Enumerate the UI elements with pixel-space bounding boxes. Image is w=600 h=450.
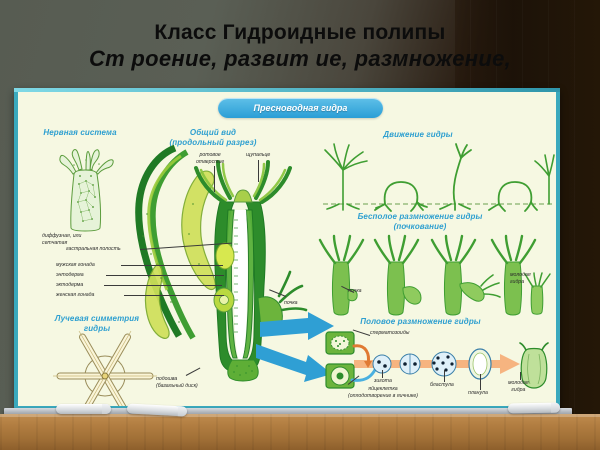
label-tentacle: щупальце: [246, 152, 270, 159]
label-planula: планула: [468, 390, 488, 397]
leader-entoderm: [106, 275, 224, 276]
label-female-gonad: женская гонада: [56, 292, 94, 299]
biology-poster: Пресноводная гидра Нервная система Общий…: [18, 92, 556, 406]
label-zygote: зигота: [374, 378, 392, 385]
label-gastral-cavity: гастральная полость: [66, 246, 121, 253]
leader-female-gonad: [124, 295, 224, 296]
label-sole: подошва (базальный диск): [156, 376, 198, 390]
whiteboard-marker-3[interactable]: [508, 403, 560, 414]
leader-zygote: [382, 370, 383, 378]
leader-mouth: [214, 166, 215, 192]
desk-edge-highlight: [0, 414, 600, 417]
leader-young-hydra-sexual: [520, 372, 521, 380]
label-diffuse-network: диффузная, или сетчатая: [42, 233, 81, 247]
whiteboard-surface: Пресноводная гидра Нервная система Общий…: [18, 92, 556, 406]
whiteboard-frame: Пресноводная гидра Нервная система Общий…: [14, 88, 560, 410]
asexual-sub-label: (почкование): [394, 222, 447, 231]
label-blastula: бластула: [430, 382, 454, 389]
label-young-hydra-sexual: молодая гидра: [508, 380, 529, 394]
label-egg-cell: яйцеклетка (оплодотворение в яичнике): [348, 386, 418, 400]
section-title-asexual: Бесполое размножение гидры (почкование): [330, 212, 510, 232]
label-entoderm: энтодерма: [56, 272, 84, 279]
label-spermatozoa: сперматозоиды: [370, 330, 410, 337]
desk-grain: [0, 414, 600, 450]
poster-title-text: Пресноводная гидра: [218, 98, 383, 118]
leader-male-gonad: [121, 265, 223, 266]
poster-title-badge: Пресноводная гидра: [218, 98, 383, 118]
label-young-hydra-budding: молодая гидра: [510, 272, 531, 286]
leader-tentacle: [258, 160, 259, 182]
heading-line-2: Ст роение, развит ие, размножение,: [0, 47, 600, 71]
heading-line-1: Класс Гидроидные полипы: [0, 22, 600, 45]
section-title-nervous-system: Нервная система: [40, 128, 120, 138]
general-view-label: Общий вид: [190, 128, 236, 137]
movement-label: Движение гидры: [383, 130, 452, 139]
section-title-movement: Движение гидры: [358, 130, 478, 140]
slide-canvas: Класс Гидроидные полипы Ст роение, разви…: [0, 0, 600, 450]
leader-ectoderm: [104, 285, 222, 286]
movement-sequence-figure: [323, 142, 553, 214]
radial-symmetry-sub-label: гидры: [84, 324, 110, 333]
whiteboard-marker-1[interactable]: [56, 404, 111, 414]
desk-surface: [0, 414, 600, 450]
nervous-system-figure: [50, 150, 122, 232]
label-mouth-opening: ротовое отверстие: [196, 152, 224, 166]
leader-blastula: [444, 370, 445, 382]
radial-symmetry-figure: [50, 338, 160, 406]
label-bud-main: почка: [284, 300, 298, 307]
label-ectoderm: эктодерма: [56, 282, 83, 289]
slide-heading: Класс Гидроидные полипы Ст роение, разви…: [0, 22, 600, 70]
label-male-gonad: мужская гонада: [56, 262, 95, 269]
leader-planula: [480, 374, 481, 390]
nervous-system-label: Нервная система: [43, 128, 116, 137]
